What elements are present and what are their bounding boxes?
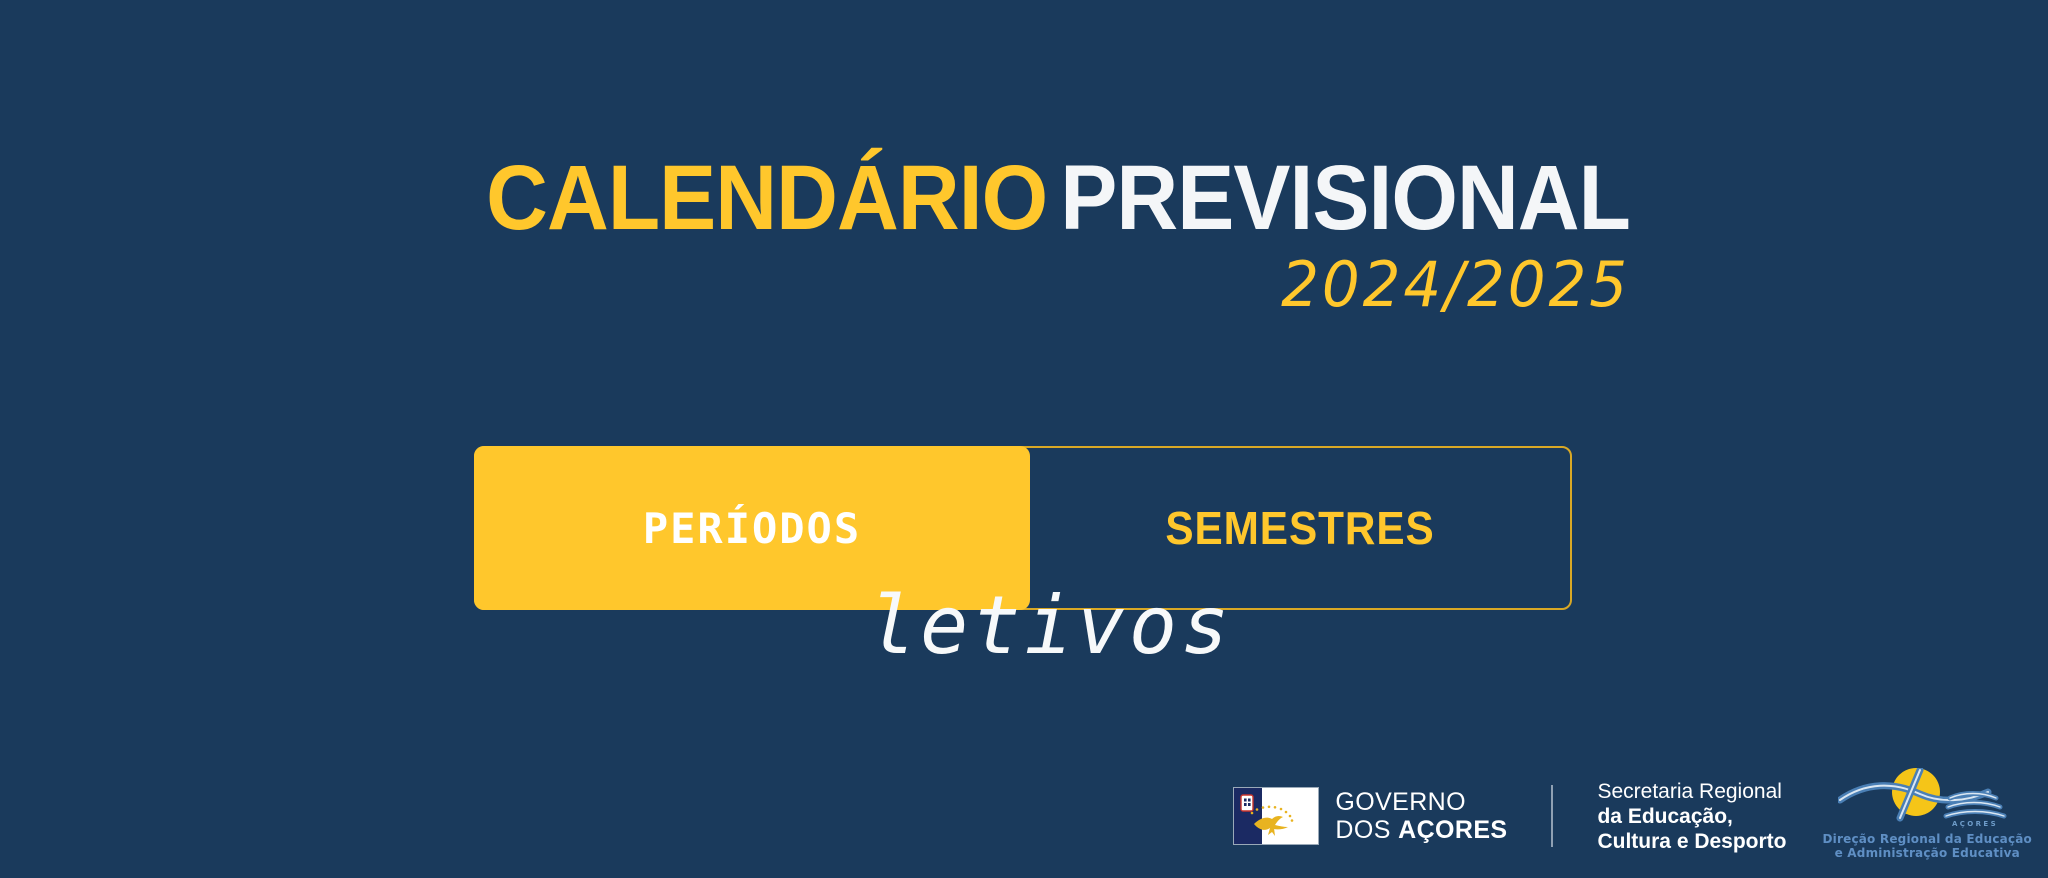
secretaria-line-1: Secretaria Regional <box>1597 779 1786 804</box>
secretaria-regional-text: Secretaria Regional da Educação, Cultura… <box>1597 779 1786 854</box>
azores-flag-icon <box>1233 787 1319 845</box>
governo-line-1: GOVERNO <box>1335 788 1507 816</box>
dre-mark-word: AÇORES <box>1952 820 1998 828</box>
logo-bar: GOVERNO DOS AÇORES Secretaria Regional d… <box>1233 768 2032 864</box>
dre-mark-icon: AÇORES <box>1838 768 2016 830</box>
secretaria-line-3: Cultura e Desporto <box>1597 829 1786 854</box>
governo-acores-text: GOVERNO DOS AÇORES <box>1335 788 1507 844</box>
page-title: CALENDÁRIOPREVISIONAL <box>114 150 1630 246</box>
direcao-line-2: e Administração Educativa <box>1823 846 2032 860</box>
tab-semestres-label: SEMESTRES <box>1165 501 1434 555</box>
governo-acores: AÇORES <box>1398 816 1507 844</box>
secretaria-line-2: da Educação, <box>1597 804 1786 829</box>
dre-emblem: AÇORES <box>1838 768 2016 830</box>
logo-divider <box>1551 785 1553 847</box>
school-year-label: 2024/2025 <box>65 250 1630 320</box>
script-word-letivos: letivos <box>868 586 1233 666</box>
direcao-line-1: Direção Regional da Educação <box>1823 832 2032 846</box>
governo-dos: DOS <box>1335 816 1398 844</box>
title-word-calendario: CALENDÁRIO <box>486 147 1047 249</box>
calendar-banner: CALENDÁRIOPREVISIONAL 2024/2025 PERÍODOS… <box>0 0 2048 878</box>
banner-title-block: CALENDÁRIOPREVISIONAL 2024/2025 <box>0 150 1640 320</box>
title-word-previsional: PREVISIONAL <box>1060 147 1630 249</box>
governo-line-2: DOS AÇORES <box>1335 816 1507 844</box>
flag-emblem <box>1234 788 1320 846</box>
tab-periodos-label: PERÍODOS <box>643 504 861 553</box>
direcao-regional-text: Direção Regional da Educação e Administr… <box>1823 832 2032 860</box>
direcao-regional-logo: AÇORES Direção Regional da Educação e Ad… <box>1823 768 2032 860</box>
governo-acores-logo: GOVERNO DOS AÇORES <box>1233 787 1507 845</box>
